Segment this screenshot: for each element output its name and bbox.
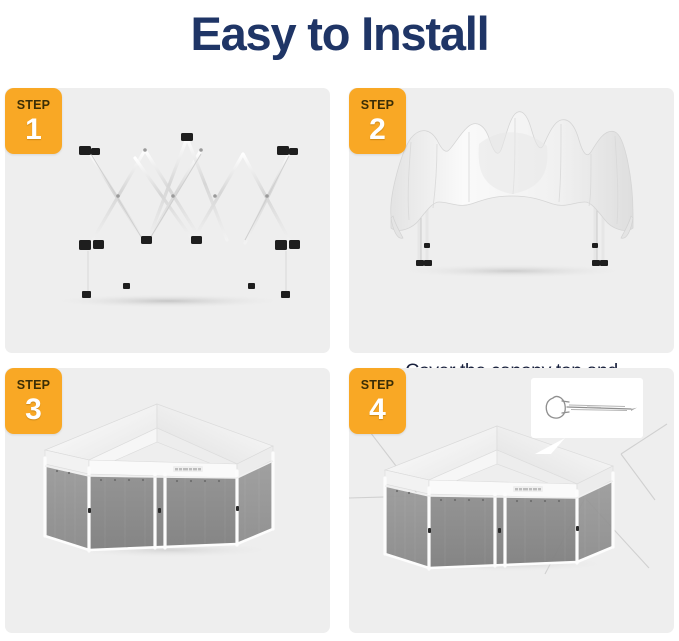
page-title: Easy to Install — [0, 4, 679, 64]
brand-logo-mark — [173, 466, 203, 472]
easy-to-install-infographic: Easy to Install — [0, 0, 679, 641]
step-card-2: STEP 2 Cover the canopy top and open the… — [349, 88, 674, 353]
step-badge-number: 1 — [5, 113, 62, 147]
ground-stake-icon — [546, 397, 631, 419]
step-badge-word: STEP — [349, 368, 406, 392]
step-badge-4: STEP 4 — [349, 368, 406, 434]
step-badge-3: STEP 3 — [5, 368, 62, 434]
wind-ropes — [349, 424, 667, 574]
step-badge-2: STEP 2 — [349, 88, 406, 154]
step-card-1: STEP 1 Pull to open the frame — [5, 88, 330, 353]
step-badge-number: 2 — [349, 113, 406, 147]
step-badge-word: STEP — [5, 88, 62, 112]
step-card-3: STEP 3 Adjust the height and attach the … — [5, 368, 330, 633]
step-card-4: STEP 4 Anchor the tent with wind ropes a… — [349, 368, 674, 633]
step-badge-1: STEP 1 — [5, 88, 62, 154]
brand-logo-mark — [513, 486, 543, 492]
step-badge-number: 3 — [5, 393, 62, 427]
step-badge-number: 4 — [349, 393, 406, 427]
step-badge-word: STEP — [349, 88, 406, 112]
step-badge-word: STEP — [5, 368, 62, 392]
ground-stake-callout — [531, 378, 643, 454]
